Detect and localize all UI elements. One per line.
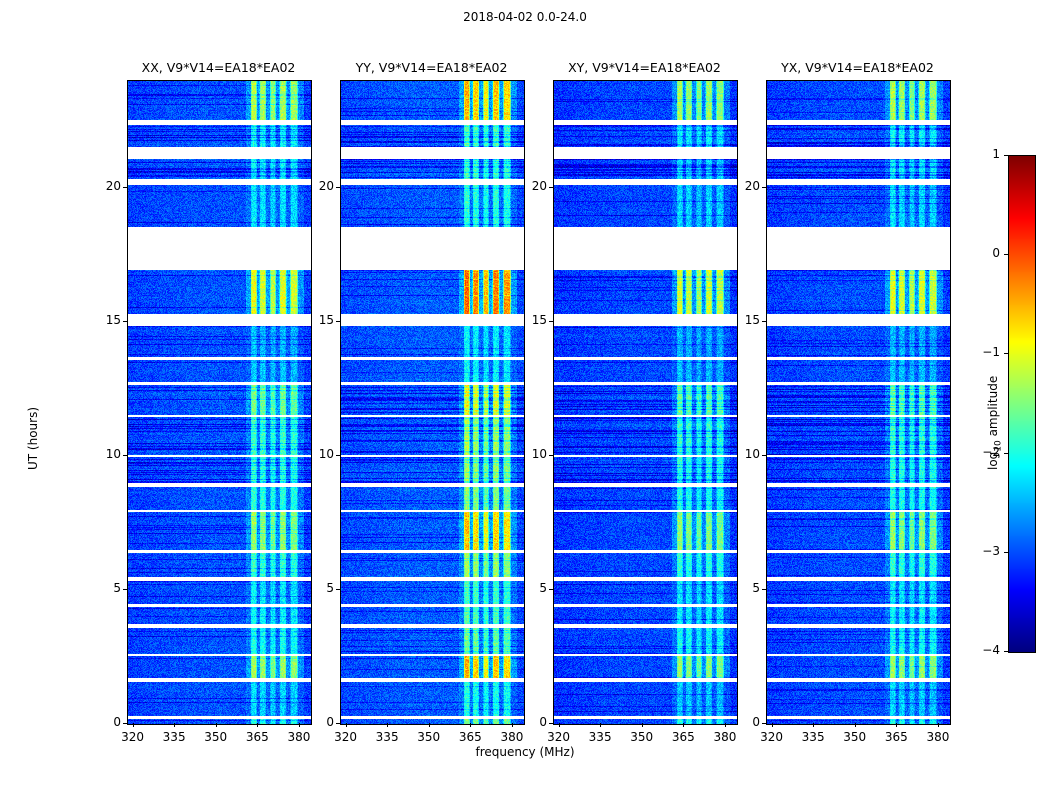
y-tickmark bbox=[762, 455, 766, 456]
y-tick-label: 10 bbox=[511, 447, 547, 461]
x-tickmark bbox=[216, 723, 217, 727]
x-axis-label: frequency (MHz) bbox=[0, 745, 1050, 759]
y-tick-label: 10 bbox=[724, 447, 760, 461]
y-tickmark bbox=[762, 723, 766, 724]
panel-title-yx: YX, V9*V14=EA18*EA02 bbox=[711, 60, 1004, 75]
x-tickmark bbox=[772, 723, 773, 727]
heatmap-panel-yx[interactable] bbox=[766, 80, 951, 725]
waterfall-image-xx bbox=[128, 81, 311, 724]
x-tickmark bbox=[855, 723, 856, 727]
y-tick-label: 0 bbox=[724, 715, 760, 729]
y-tickmark bbox=[336, 321, 340, 322]
x-tickmark bbox=[896, 723, 897, 727]
y-tickmark bbox=[549, 589, 553, 590]
y-tickmark bbox=[123, 187, 127, 188]
waterfall-image-yx bbox=[767, 81, 950, 724]
x-tickmark bbox=[813, 723, 814, 727]
colorbar bbox=[1008, 155, 1036, 653]
y-tickmark bbox=[123, 455, 127, 456]
y-tickmark bbox=[549, 455, 553, 456]
heatmap-panel-xy[interactable] bbox=[553, 80, 738, 725]
y-tick-label: 15 bbox=[511, 313, 547, 327]
y-tickmark bbox=[123, 589, 127, 590]
x-tickmark bbox=[429, 723, 430, 727]
colorbar-tickmark bbox=[1004, 254, 1008, 255]
y-tick-label: 5 bbox=[85, 581, 121, 595]
colorbar-tickmark bbox=[1004, 155, 1008, 156]
waterfall-canvas-yx bbox=[767, 81, 950, 724]
waterfall-image-xy bbox=[554, 81, 737, 724]
colorbar-tickmark bbox=[1004, 453, 1008, 454]
y-tick-label: 15 bbox=[85, 313, 121, 327]
x-tickmark bbox=[683, 723, 684, 727]
colorbar-tick-label: −3 bbox=[960, 544, 1000, 558]
x-tick-label: 380 bbox=[274, 730, 324, 744]
colorbar-label-log: log bbox=[986, 452, 1000, 470]
colorbar-label-tail: amplitude bbox=[986, 376, 1000, 440]
x-tickmark bbox=[470, 723, 471, 727]
x-tickmark bbox=[559, 723, 560, 727]
x-tickmark bbox=[938, 723, 939, 727]
colorbar-tick-label: 0 bbox=[960, 246, 1000, 260]
y-tick-label: 15 bbox=[724, 313, 760, 327]
y-axis-label: UT (hours) bbox=[26, 407, 40, 470]
y-tick-label: 0 bbox=[85, 715, 121, 729]
y-tick-label: 20 bbox=[85, 179, 121, 193]
x-tickmark bbox=[600, 723, 601, 727]
x-tick-label: 380 bbox=[700, 730, 750, 744]
y-tickmark bbox=[549, 187, 553, 188]
y-tickmark bbox=[336, 723, 340, 724]
colorbar-label: log10 amplitude bbox=[986, 376, 1003, 470]
x-tickmark bbox=[133, 723, 134, 727]
y-tick-label: 10 bbox=[85, 447, 121, 461]
colorbar-tickmark bbox=[1004, 353, 1008, 354]
y-tickmark bbox=[762, 589, 766, 590]
figure-root: 2018-04-02 0.0-24.0 XX, V9*V14=EA18*EA02… bbox=[0, 0, 1050, 800]
y-tickmark bbox=[549, 321, 553, 322]
waterfall-image-yy bbox=[341, 81, 524, 724]
y-tick-label: 10 bbox=[298, 447, 334, 461]
figure-title: 2018-04-02 0.0-24.0 bbox=[0, 10, 1050, 24]
y-tickmark bbox=[762, 187, 766, 188]
x-tickmark bbox=[174, 723, 175, 727]
x-tick-label: 380 bbox=[913, 730, 963, 744]
waterfall-canvas-xy bbox=[554, 81, 737, 724]
x-tickmark bbox=[346, 723, 347, 727]
y-tick-label: 0 bbox=[298, 715, 334, 729]
y-tick-label: 20 bbox=[298, 179, 334, 193]
colorbar-tick-label: −1 bbox=[960, 345, 1000, 359]
y-tick-label: 20 bbox=[511, 179, 547, 193]
colorbar-tickmark bbox=[1004, 552, 1008, 553]
heatmap-panel-xx[interactable] bbox=[127, 80, 312, 725]
y-tickmark bbox=[336, 187, 340, 188]
x-tickmark bbox=[642, 723, 643, 727]
colorbar-label-subscript: 10 bbox=[993, 440, 1003, 451]
y-tick-label: 0 bbox=[511, 715, 547, 729]
waterfall-canvas-xx bbox=[128, 81, 311, 724]
y-tickmark bbox=[549, 723, 553, 724]
colorbar-tick-label: −4 bbox=[960, 643, 1000, 657]
y-tickmark bbox=[336, 589, 340, 590]
y-tick-label: 20 bbox=[724, 179, 760, 193]
heatmap-panel-yy[interactable] bbox=[340, 80, 525, 725]
colorbar-tick-label: 1 bbox=[960, 147, 1000, 161]
y-tickmark bbox=[762, 321, 766, 322]
y-tick-label: 5 bbox=[298, 581, 334, 595]
x-tick-label: 380 bbox=[487, 730, 537, 744]
y-tickmark bbox=[336, 455, 340, 456]
colorbar-gradient bbox=[1009, 156, 1035, 652]
y-tickmark bbox=[123, 723, 127, 724]
waterfall-canvas-yy bbox=[341, 81, 524, 724]
x-tickmark bbox=[257, 723, 258, 727]
y-tick-label: 5 bbox=[724, 581, 760, 595]
y-tick-label: 15 bbox=[298, 313, 334, 327]
colorbar-tickmark bbox=[1004, 651, 1008, 652]
y-tick-label: 5 bbox=[511, 581, 547, 595]
x-tickmark bbox=[387, 723, 388, 727]
y-tickmark bbox=[123, 321, 127, 322]
